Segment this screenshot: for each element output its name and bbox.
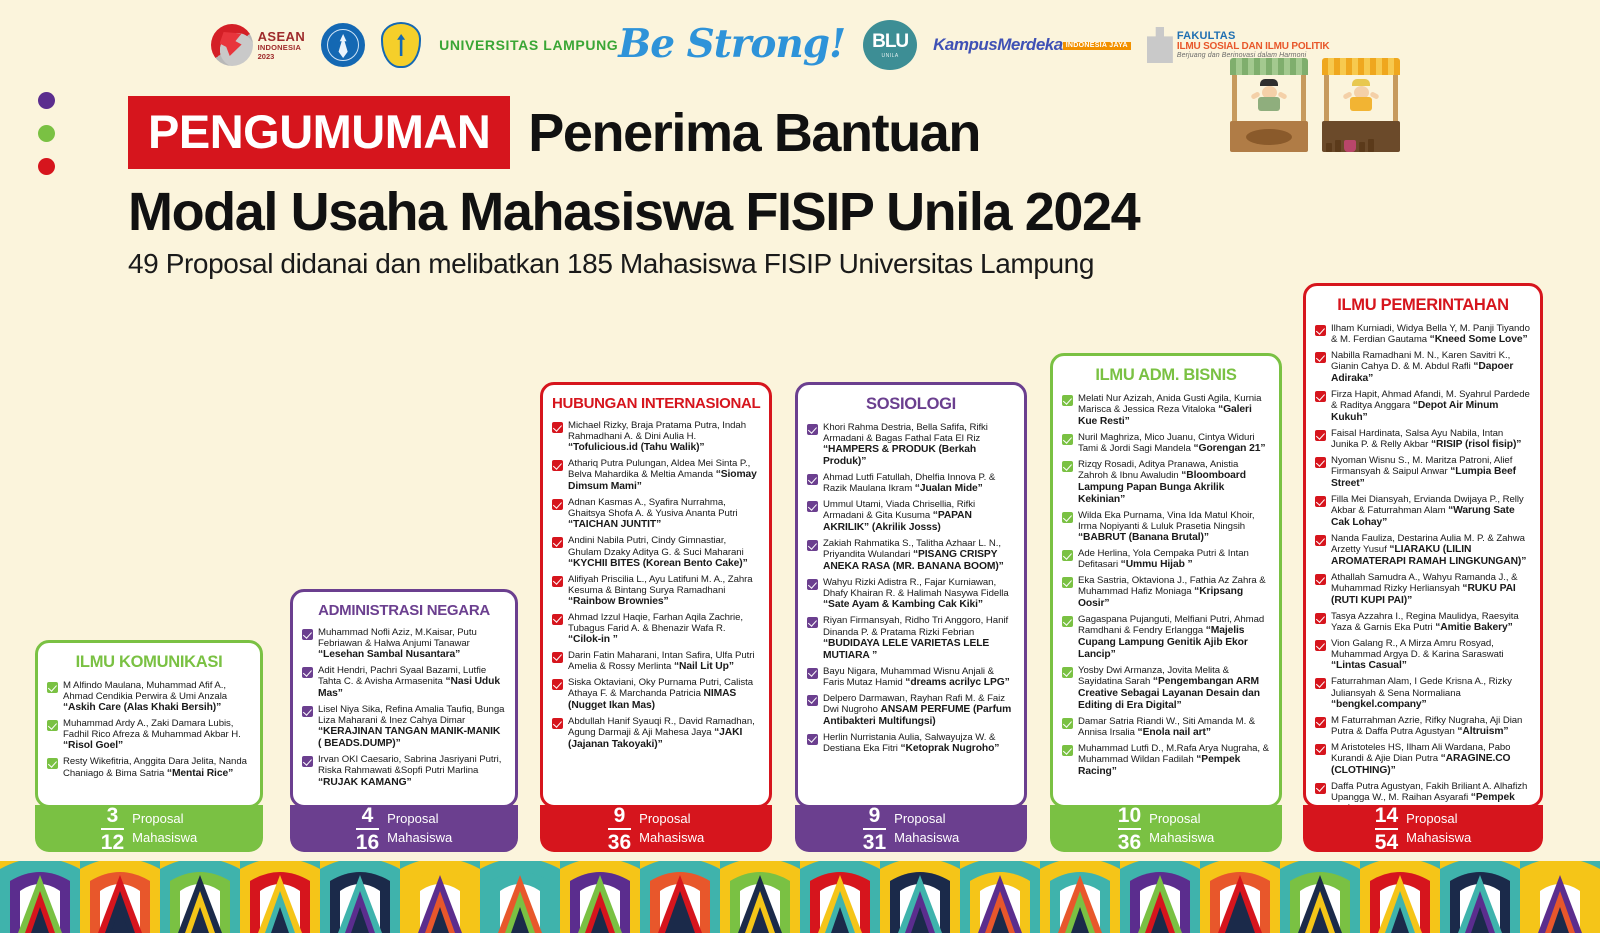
grantee-list: M Alfindo Maulana, Muhammad Afif A., Ahm… bbox=[47, 680, 251, 779]
grantee-entry: Vion Galang R., A Mirza Amru Rosyad, Muh… bbox=[1315, 638, 1531, 672]
grantee-names: Michael Rizky, Braja Pratama Putra, Inda… bbox=[568, 420, 746, 442]
check-icon bbox=[807, 579, 818, 590]
grantee-text: Rizqy Rosadi, Aditya Pranawa, Anistia Za… bbox=[1078, 459, 1270, 506]
grantee-entry: Tasya Azzahra I., Regina Maulidya, Raesy… bbox=[1315, 611, 1531, 634]
grantee-text: Nuril Maghriza, Mico Juanu, Cintya Widur… bbox=[1078, 432, 1270, 455]
check-icon bbox=[807, 540, 818, 551]
stall-counter-menu bbox=[1322, 121, 1400, 152]
grantee-text: Yosby Dwi Armanza, Jovita Melita & Sayid… bbox=[1078, 665, 1270, 712]
stall-roof-yellow bbox=[1322, 58, 1400, 75]
grantee-business-name: “Gorengan 21” bbox=[1193, 443, 1265, 454]
check-icon bbox=[552, 652, 563, 663]
check-icon bbox=[807, 668, 818, 679]
grantee-text: Adit Hendri, Pachri Syaal Bazami, Lutfie… bbox=[318, 665, 506, 700]
grantee-list: Muhammad Nofli Aziz, M.Kaisar, Putu Febr… bbox=[302, 627, 506, 789]
asean-indonesia-2023-logo: ASEAN INDONESIA 2023 bbox=[211, 24, 306, 66]
student-count: 54 bbox=[1375, 831, 1398, 853]
ornament-motif bbox=[1040, 861, 1120, 933]
fisip-tower-icon bbox=[1147, 27, 1173, 63]
proposal-count: 9 bbox=[863, 805, 886, 827]
check-icon bbox=[1315, 574, 1326, 585]
proposal-count: 3 bbox=[101, 805, 124, 827]
fisip-line2: ILMU SOSIAL DAN ILMU POLITIK bbox=[1177, 42, 1330, 52]
grantee-entry: Firza Hapit, Ahmad Afandi, M. Syahrul Pa… bbox=[1315, 389, 1531, 424]
student-count: 12 bbox=[101, 831, 124, 853]
fraction-divider bbox=[1118, 828, 1141, 830]
grantee-names: M Alfindo Maulana, Muhammad Afif A., Ahm… bbox=[63, 680, 227, 702]
department-card-hubungan-internasional: HUBUNGAN INTERNASIONALMichael Rizky, Bra… bbox=[540, 382, 772, 855]
headline-line-2: Modal Usaha Mahasiswa FISIP Unila 2024 bbox=[128, 185, 1328, 239]
grantee-text: Bayu Nigara, Muhammad Wisnu Anjali & Far… bbox=[823, 666, 1015, 689]
grantee-names: Faturrahman Alam, I Gede Krisna A., Rizk… bbox=[1331, 676, 1512, 698]
grantee-names: Wilda Eka Purnama, Vina Ida Matul Khoir,… bbox=[1078, 510, 1254, 532]
check-icon bbox=[807, 474, 818, 485]
summary-labels: ProposalMahasiswa bbox=[1406, 810, 1471, 848]
grantee-entry: Rizqy Rosadi, Aditya Pranawa, Anistia Za… bbox=[1062, 459, 1270, 506]
fraction-divider bbox=[101, 828, 124, 830]
ornament-motif bbox=[160, 861, 240, 933]
check-icon bbox=[1315, 535, 1326, 546]
department-summary-footer: 1036ProposalMahasiswa bbox=[1050, 805, 1282, 852]
grantee-text: Wilda Eka Purnama, Vina Ida Matul Khoir,… bbox=[1078, 510, 1270, 544]
grantee-text: Eka Sastria, Oktaviona J., Fathia Az Zah… bbox=[1078, 575, 1270, 610]
check-icon bbox=[552, 718, 563, 729]
grantee-text: Alifiyah Priscilia L., Ayu Latifuni M. A… bbox=[568, 574, 760, 608]
check-icon bbox=[1315, 430, 1326, 441]
grantee-entry: Nyoman Wisnu S., M. Maritza Patroni, Ali… bbox=[1315, 455, 1531, 490]
department-title: ADMINISTRASI NEGARA bbox=[302, 602, 506, 619]
grantee-text: Muhammad Lutfi D., M.Rafa Arya Nugraha, … bbox=[1078, 743, 1270, 778]
ornament-motif bbox=[720, 861, 800, 933]
summary-fraction: 1454 bbox=[1375, 805, 1398, 853]
grantee-names: Khori Rahma Destria, Bella Safifa, Rifki… bbox=[823, 422, 988, 444]
grantee-entry: Adit Hendri, Pachri Syaal Bazami, Lutfie… bbox=[302, 665, 506, 700]
proposal-label: Proposal bbox=[387, 810, 452, 829]
mahasiswa-label: Mahasiswa bbox=[132, 829, 197, 848]
grantee-text: Muhammad Nofli Aziz, M.Kaisar, Putu Febr… bbox=[318, 627, 506, 661]
grantee-business-name: “Tofulicious.id (Tahu Walik)” bbox=[568, 442, 704, 453]
grantee-entry: Muhammad Ardy A., Zaki Damara Lubis, Fad… bbox=[47, 718, 251, 752]
grantee-text: Irvan OKI Caesario, Sabrina Jasriyani Pu… bbox=[318, 754, 506, 788]
check-icon bbox=[1315, 744, 1326, 755]
grantee-text: M Aristoteles HS, Ilham Ali Wardana, Pab… bbox=[1331, 742, 1531, 777]
grantee-text: Siska Oktaviani, Oky Purnama Putri, Cali… bbox=[568, 677, 760, 712]
grantee-text: Darin Fatin Maharani, Intan Safira, Ulfa… bbox=[568, 650, 760, 673]
grantee-entry: Herlin Nurristania Aulia, Salwayujza W. … bbox=[807, 732, 1015, 755]
grantee-business-name: “Mentai Rice” bbox=[167, 768, 233, 779]
proposal-label: Proposal bbox=[639, 810, 704, 829]
grantee-text: Khori Rahma Destria, Bella Safifa, Rifki… bbox=[823, 422, 1015, 468]
grantee-text: Riyan Firmansyah, Ridho Tri Anggoro, Han… bbox=[823, 615, 1015, 661]
check-icon bbox=[1062, 434, 1073, 445]
grantee-entry: Melati Nur Azizah, Anida Gusti Agila, Ku… bbox=[1062, 393, 1270, 428]
grantee-entry: Filla Mei Diansyah, Ervianda Dwijaya P.,… bbox=[1315, 494, 1531, 529]
grantee-text: M Faturrahman Azrie, Rifky Nugraha, Aji … bbox=[1331, 715, 1531, 738]
check-icon bbox=[807, 424, 818, 435]
summary-fraction: 312 bbox=[101, 805, 124, 853]
ornament-motif bbox=[320, 861, 400, 933]
grantee-text: Andini Nabila Putri, Cindy Gimnastiar, G… bbox=[568, 535, 760, 569]
department-card-ilmu-pemerintahan: ILMU PEMERINTAHANIlham Kurniadi, Widya B… bbox=[1303, 283, 1543, 855]
department-card-administrasi-negara: ADMINISTRASI NEGARAMuhammad Nofli Aziz, … bbox=[290, 589, 518, 855]
grantee-entry: Muhammad Nofli Aziz, M.Kaisar, Putu Febr… bbox=[302, 627, 506, 661]
grantee-business-name: “Askih Care (Alas Khaki Bersih)” bbox=[63, 702, 221, 713]
grantee-entry: M Alfindo Maulana, Muhammad Afif A., Ahm… bbox=[47, 680, 251, 714]
check-icon bbox=[1315, 457, 1326, 468]
student-count: 36 bbox=[1118, 831, 1141, 853]
grantee-text: Abdullah Hanif Syauqi R., David Ramadhan… bbox=[568, 716, 760, 751]
grantee-text: Athallah Samudra A., Wahyu Ramanda J., &… bbox=[1331, 572, 1531, 607]
unila-shield-logo bbox=[381, 22, 421, 68]
grantee-entry: Gagaspana Pujanguti, Melfiani Putri, Ahm… bbox=[1062, 614, 1270, 661]
grantee-entry: Irvan OKI Caesario, Sabrina Jasriyani Pu… bbox=[302, 754, 506, 788]
ornament-motif bbox=[1520, 861, 1600, 933]
grantee-names: Riyan Firmansyah, Ridho Tri Anggoro, Han… bbox=[823, 615, 1008, 637]
check-icon bbox=[1062, 461, 1073, 472]
grantee-text: Athariq Putra Pulungan, Aldea Mei Sinta … bbox=[568, 458, 760, 493]
grantee-business-name: “Risol Goel” bbox=[63, 740, 123, 751]
blu-label: BLU bbox=[872, 31, 908, 53]
grantee-text: Lisel Niya Sika, Refina Amalia Taufiq, B… bbox=[318, 704, 506, 750]
check-icon bbox=[1062, 616, 1073, 627]
grantee-names: Alifiyah Priscilia L., Ayu Latifuni M. A… bbox=[568, 574, 753, 596]
kampus-merdeka-logo: Kampus Merdeka INDONESIA JAYA bbox=[933, 37, 1131, 53]
department-summary-footer: 312ProposalMahasiswa bbox=[35, 805, 263, 852]
check-icon bbox=[552, 499, 563, 510]
grantee-list: Melati Nur Azizah, Anida Gusti Agila, Ku… bbox=[1062, 393, 1270, 778]
check-icon bbox=[302, 706, 313, 717]
grantee-business-name: “Jualan Mide” bbox=[915, 483, 983, 494]
grantee-text: Melati Nur Azizah, Anida Gusti Agila, Ku… bbox=[1078, 393, 1270, 428]
grantee-text: Herlin Nurristania Aulia, Salwayujza W. … bbox=[823, 732, 1015, 755]
department-card-body: SOSIOLOGIKhori Rahma Destria, Bella Safi… bbox=[795, 382, 1027, 808]
check-icon bbox=[1315, 640, 1326, 651]
kampus-merdeka-line1: Kampus bbox=[933, 37, 997, 53]
grantee-business-name: “Sate Ayam & Kambing Cak Kiki” bbox=[823, 599, 983, 610]
grantee-business-name: “Kneed Some Love” bbox=[1430, 334, 1528, 345]
grantee-text: Wahyu Rizki Adistra R., Fajar Kurniawan,… bbox=[823, 577, 1015, 611]
asean-country-label: INDONESIA bbox=[258, 44, 306, 52]
check-icon bbox=[302, 756, 313, 767]
grantee-entry: Wilda Eka Purnama, Vina Ida Matul Khoir,… bbox=[1062, 510, 1270, 544]
grantee-names: Wahyu Rizki Adistra R., Fajar Kurniawan,… bbox=[823, 577, 1009, 599]
grantee-entry: Faisal Hardinata, Salsa Ayu Nabila, Inta… bbox=[1315, 428, 1531, 451]
grantee-business-name: “HAMPERS & PRODUK (Berkah Produk)” bbox=[823, 444, 976, 467]
grantee-names: Lisel Niya Sika, Refina Amalia Taufiq, B… bbox=[318, 704, 504, 726]
grantee-entry: Khori Rahma Destria, Bella Safifa, Rifki… bbox=[807, 422, 1015, 468]
summary-fraction: 1036 bbox=[1118, 805, 1141, 853]
unila-tagline: UNIVERSITAS LAMPUNG bbox=[439, 39, 618, 52]
mahasiswa-label: Mahasiswa bbox=[639, 829, 704, 848]
logo-bar: ASEAN INDONESIA 2023 UNIVERSITAS LAMPUNG… bbox=[420, 14, 1120, 76]
grantee-names: Adnan Kasmas A., Syafira Nurrahma, Ghait… bbox=[568, 497, 738, 519]
grantee-text: Ummul Utami, Viada Chrisellia, Rifki Arm… bbox=[823, 499, 1015, 534]
check-icon bbox=[1062, 745, 1073, 756]
grantee-text: Filla Mei Diansyah, Ervianda Dwijaya P.,… bbox=[1331, 494, 1531, 529]
ornament-motif bbox=[400, 861, 480, 933]
poster-root: ASEAN INDONESIA 2023 UNIVERSITAS LAMPUNG… bbox=[0, 0, 1600, 933]
check-icon bbox=[1315, 352, 1326, 363]
check-icon bbox=[1062, 550, 1073, 561]
ornament-motif bbox=[960, 861, 1040, 933]
check-icon bbox=[47, 758, 58, 769]
food-stall-drinks bbox=[1322, 58, 1400, 152]
check-icon bbox=[552, 422, 563, 433]
grantee-entry: Ahmad Izzul Haqie, Farhan Aqila Zachrie,… bbox=[552, 612, 760, 646]
ornament-motif bbox=[880, 861, 960, 933]
summary-labels: ProposalMahasiswa bbox=[894, 810, 959, 848]
ornament-motif bbox=[560, 861, 640, 933]
department-card-ilmu-adm-bisnis: ILMU ADM. BISNISMelati Nur Azizah, Anida… bbox=[1050, 353, 1282, 855]
department-summary-footer: 931ProposalMahasiswa bbox=[795, 805, 1027, 852]
summary-fraction: 936 bbox=[608, 805, 631, 853]
unila-slogan: Be Strong! bbox=[618, 27, 845, 63]
bottom-ornament-band bbox=[0, 861, 1600, 933]
check-icon bbox=[1315, 678, 1326, 689]
grantee-list: Khori Rahma Destria, Bella Safifa, Rifki… bbox=[807, 422, 1015, 755]
department-summary-footer: 1454ProposalMahasiswa bbox=[1303, 805, 1543, 852]
grantee-text: Gagaspana Pujanguti, Melfiani Putri, Ahm… bbox=[1078, 614, 1270, 661]
grantee-text: Delpero Darmawan, Rayhan Rafi M. & Faiz … bbox=[823, 693, 1015, 728]
mahasiswa-label: Mahasiswa bbox=[1149, 829, 1214, 848]
dot-green-icon bbox=[38, 125, 55, 142]
check-icon bbox=[1062, 395, 1073, 406]
mahasiswa-label: Mahasiswa bbox=[894, 829, 959, 848]
department-card-body: HUBUNGAN INTERNASIONALMichael Rizky, Bra… bbox=[540, 382, 772, 808]
fraction-divider bbox=[863, 828, 886, 830]
student-count: 16 bbox=[356, 831, 379, 853]
check-icon bbox=[552, 614, 563, 625]
summary-labels: ProposalMahasiswa bbox=[387, 810, 452, 848]
department-card-sosiologi: SOSIOLOGIKhori Rahma Destria, Bella Safi… bbox=[795, 382, 1027, 855]
grantee-entry: Abdullah Hanif Syauqi R., David Ramadhan… bbox=[552, 716, 760, 751]
proposal-label: Proposal bbox=[1406, 810, 1471, 829]
check-icon bbox=[1315, 783, 1326, 794]
check-icon bbox=[1315, 325, 1326, 336]
fraction-divider bbox=[608, 828, 631, 830]
check-icon bbox=[302, 629, 313, 640]
grantee-text: Ahmad Lutfi Fatullah, Dhelfia Innova P. … bbox=[823, 472, 1015, 495]
grantee-entry: Alifiyah Priscilia L., Ayu Latifuni M. A… bbox=[552, 574, 760, 608]
stall-roof-green bbox=[1230, 58, 1308, 75]
grantee-entry: Athallah Samudra A., Wahyu Ramanda J., &… bbox=[1315, 572, 1531, 607]
grantee-business-name: “Lesehan Sambal Nusantara” bbox=[318, 649, 460, 660]
grantee-entry: Muhammad Lutfi D., M.Rafa Arya Nugraha, … bbox=[1062, 743, 1270, 778]
grantee-entry: Resty Wikefitria, Anggita Dara Jelita, N… bbox=[47, 756, 251, 779]
department-title: HUBUNGAN INTERNASIONAL bbox=[552, 395, 760, 412]
grantee-list: Michael Rizky, Braja Pratama Putra, Inda… bbox=[552, 420, 760, 751]
department-summary-footer: 936ProposalMahasiswa bbox=[540, 805, 772, 852]
asean-globe-icon bbox=[211, 24, 253, 66]
grantee-text: Zakiah Rahmatika S., Talitha Azhaar L. N… bbox=[823, 538, 1015, 573]
proposal-label: Proposal bbox=[1149, 810, 1214, 829]
grantee-business-name: “RUJAK KAMANG” bbox=[318, 777, 412, 788]
grantee-business-name: “Amitie Bakery” bbox=[1435, 622, 1512, 633]
grantee-entry: Delpero Darmawan, Rayhan Rafi M. & Faiz … bbox=[807, 693, 1015, 728]
department-title: SOSIOLOGI bbox=[807, 395, 1015, 414]
grantee-entry: Ilham Kurniadi, Widya Bella Y, M. Panji … bbox=[1315, 323, 1531, 346]
check-icon bbox=[47, 682, 58, 693]
department-title: ILMU ADM. BISNIS bbox=[1062, 366, 1270, 385]
ornament-motif bbox=[240, 861, 320, 933]
check-icon bbox=[1062, 718, 1073, 729]
grantee-entry: Faturrahman Alam, I Gede Krisna A., Rizk… bbox=[1315, 676, 1531, 710]
ornament-motif bbox=[1120, 861, 1200, 933]
ornament-motif bbox=[1440, 861, 1520, 933]
grantee-business-name: “Lintas Casual” bbox=[1331, 660, 1407, 671]
check-icon bbox=[552, 679, 563, 690]
ornament-motif bbox=[800, 861, 880, 933]
grantee-entry: Ade Herlina, Yola Cempaka Putri & Intan … bbox=[1062, 548, 1270, 571]
announcement-badge: PENGUMUMAN bbox=[128, 96, 510, 169]
grantee-names: Ahmad Izzul Haqie, Farhan Aqila Zachrie,… bbox=[568, 612, 743, 634]
grantee-text: Daffa Putra Agustyan, Fakih Briliant A. … bbox=[1331, 781, 1531, 808]
check-icon bbox=[302, 667, 313, 678]
grantee-entry: Adnan Kasmas A., Syafira Nurrahma, Ghait… bbox=[552, 497, 760, 531]
grantee-entry: Nuril Maghriza, Mico Juanu, Cintya Widur… bbox=[1062, 432, 1270, 455]
grantee-entry: Athariq Putra Pulungan, Aldea Mei Sinta … bbox=[552, 458, 760, 493]
department-title: ILMU PEMERINTAHAN bbox=[1315, 296, 1531, 315]
grantee-names: Andini Nabila Putri, Cindy Gimnastiar, G… bbox=[568, 535, 744, 557]
grantee-business-name: “RISIP (risol fisip)” bbox=[1431, 439, 1521, 450]
blu-sub-label: UNILA bbox=[882, 53, 899, 59]
headline-subtitle: 49 Proposal didanai dan melibatkan 185 M… bbox=[128, 249, 1328, 278]
grantee-text: Nabilla Ramadhani M. N., Karen Savitri K… bbox=[1331, 350, 1531, 385]
check-icon bbox=[1062, 512, 1073, 523]
proposal-count: 4 bbox=[356, 805, 379, 827]
grantee-business-name: “dreams acrilyc LPG” bbox=[905, 677, 1009, 688]
grantee-entry: Yosby Dwi Armanza, Jovita Melita & Sayid… bbox=[1062, 665, 1270, 712]
grantee-business-name: “Ummu Hijab ” bbox=[1121, 559, 1193, 570]
grantee-text: Nanda Fauliza, Destarina Aulia M. P. & Z… bbox=[1331, 533, 1531, 568]
grantee-entry: Damar Satria Riandi W., Siti Amanda M. &… bbox=[1062, 716, 1270, 739]
grantee-entry: Daffa Putra Agustyan, Fakih Briliant A. … bbox=[1315, 781, 1531, 808]
department-summary-footer: 416ProposalMahasiswa bbox=[290, 805, 518, 852]
kampus-merdeka-line2: Merdeka bbox=[997, 37, 1062, 53]
grantee-entry: Nabilla Ramadhani M. N., Karen Savitri K… bbox=[1315, 350, 1531, 385]
ornament-motif bbox=[1360, 861, 1440, 933]
grantee-entry: Nanda Fauliza, Destarina Aulia M. P. & Z… bbox=[1315, 533, 1531, 568]
dot-purple-icon bbox=[38, 92, 55, 109]
summary-labels: ProposalMahasiswa bbox=[1149, 810, 1214, 848]
ornament-motif bbox=[80, 861, 160, 933]
grantee-entry: Bayu Nigara, Muhammad Wisnu Anjali & Far… bbox=[807, 666, 1015, 689]
grantee-entry: Wahyu Rizki Adistra R., Fajar Kurniawan,… bbox=[807, 577, 1015, 611]
grantee-text: Ade Herlina, Yola Cempaka Putri & Intan … bbox=[1078, 548, 1270, 571]
grantee-entry: Eka Sastria, Oktaviona J., Fathia Az Zah… bbox=[1062, 575, 1270, 610]
grantee-text: Nyoman Wisnu S., M. Maritza Patroni, Ali… bbox=[1331, 455, 1531, 490]
summary-labels: ProposalMahasiswa bbox=[132, 810, 197, 848]
grantee-business-name: “Rainbow Brownies” bbox=[568, 596, 669, 607]
proposal-count: 9 bbox=[608, 805, 631, 827]
department-card-ilmu-komunikasi: ILMU KOMUNIKASIM Alfindo Maulana, Muhamm… bbox=[35, 640, 263, 855]
summary-fraction: 931 bbox=[863, 805, 886, 853]
check-icon bbox=[807, 695, 818, 706]
mahasiswa-label: Mahasiswa bbox=[1406, 829, 1471, 848]
blu-unila-logo: BLU UNILA bbox=[863, 20, 917, 70]
grantee-business-name: “Altruism” bbox=[1457, 726, 1508, 737]
grantee-entry: M Aristoteles HS, Ilham Ali Wardana, Pab… bbox=[1315, 742, 1531, 777]
grantee-text: Firza Hapit, Ahmad Afandi, M. Syahrul Pa… bbox=[1331, 389, 1531, 424]
department-card-body: ILMU PEMERINTAHANIlham Kurniadi, Widya B… bbox=[1303, 283, 1543, 808]
ornament-motif bbox=[0, 861, 80, 933]
grantee-text: Tasya Azzahra I., Regina Maulidya, Raesy… bbox=[1331, 611, 1531, 634]
check-icon bbox=[552, 460, 563, 471]
student-count: 36 bbox=[608, 831, 631, 853]
grantee-entry: Andini Nabila Putri, Cindy Gimnastiar, G… bbox=[552, 535, 760, 569]
grantee-entry: Riyan Firmansyah, Ridho Tri Anggoro, Han… bbox=[807, 615, 1015, 661]
grantee-list: Ilham Kurniadi, Widya Bella Y, M. Panji … bbox=[1315, 323, 1531, 808]
grantee-entry: Lisel Niya Sika, Refina Amalia Taufiq, B… bbox=[302, 704, 506, 750]
grantee-entry: Darin Fatin Maharani, Intan Safira, Ulfa… bbox=[552, 650, 760, 673]
student-count: 31 bbox=[863, 831, 886, 853]
department-card-body: ADMINISTRASI NEGARAMuhammad Nofli Aziz, … bbox=[290, 589, 518, 808]
ornament-motif bbox=[1280, 861, 1360, 933]
grantee-text: Michael Rizky, Braja Pratama Putra, Inda… bbox=[568, 420, 760, 454]
headline-block: PENGUMUMAN Penerima Bantuan Modal Usaha … bbox=[128, 96, 1328, 278]
grantee-text: M Alfindo Maulana, Muhammad Afif A., Ahm… bbox=[63, 680, 251, 714]
unila-be-strong-logo: UNIVERSITAS LAMPUNG Be Strong! bbox=[439, 27, 845, 63]
grantee-entry: Ummul Utami, Viada Chrisellia, Rifki Arm… bbox=[807, 499, 1015, 534]
check-icon bbox=[1315, 613, 1326, 624]
fraction-divider bbox=[356, 828, 379, 830]
grantee-text: Faisal Hardinata, Salsa Ayu Nabila, Inta… bbox=[1331, 428, 1531, 451]
grantee-text: Muhammad Ardy A., Zaki Damara Lubis, Fad… bbox=[63, 718, 251, 752]
check-icon bbox=[807, 734, 818, 745]
grantee-text: Resty Wikefitria, Anggita Dara Jelita, N… bbox=[63, 756, 251, 779]
grantee-business-name: “KYCHII BITES (Korean Bento Cake)” bbox=[568, 558, 748, 569]
grantee-text: Ahmad Izzul Haqie, Farhan Aqila Zachrie,… bbox=[568, 612, 760, 646]
grantee-entry: M Faturrahman Azrie, Rifky Nugraha, Aji … bbox=[1315, 715, 1531, 738]
check-icon bbox=[1315, 496, 1326, 507]
grantee-names: Muhammad Nofli Aziz, M.Kaisar, Putu Febr… bbox=[318, 627, 477, 649]
grantee-business-name: “Nail Lit Up” bbox=[674, 661, 734, 672]
grantee-business-name: “BUDIDAYA LELE VARIETAS LELE MUTIARA ” bbox=[823, 638, 989, 661]
asean-year-label: 2023 bbox=[258, 53, 306, 61]
grantee-entry: Michael Rizky, Braja Pratama Putra, Inda… bbox=[552, 420, 760, 454]
kemendikbud-tutwuri-logo bbox=[321, 23, 365, 67]
check-icon bbox=[1062, 577, 1073, 588]
grantee-text: Adnan Kasmas A., Syafira Nurrahma, Ghait… bbox=[568, 497, 760, 531]
department-card-body: ILMU KOMUNIKASIM Alfindo Maulana, Muhamm… bbox=[35, 640, 263, 808]
headline-line-1: Penerima Bantuan bbox=[528, 106, 980, 160]
check-icon bbox=[807, 617, 818, 628]
department-title: ILMU KOMUNIKASI bbox=[47, 653, 251, 672]
check-icon bbox=[552, 537, 563, 548]
grantee-text: Damar Satria Riandi W., Siti Amanda M. &… bbox=[1078, 716, 1270, 739]
vendor-woman-icon bbox=[1344, 79, 1378, 111]
decorative-dots bbox=[38, 92, 55, 191]
grantee-business-name: “BABRUT (Banana Brutal)” bbox=[1078, 532, 1209, 543]
asean-label: ASEAN bbox=[258, 30, 306, 43]
department-card-body: ILMU ADM. BISNISMelati Nur Azizah, Anida… bbox=[1050, 353, 1282, 808]
summary-fraction: 416 bbox=[356, 805, 379, 853]
grantee-names: Muhammad Lutfi D., M.Rafa Arya Nugraha, … bbox=[1078, 743, 1269, 765]
grantee-business-name: “KERAJINAN TANGAN MANIK-MANIK ( BEADS.DU… bbox=[318, 726, 500, 749]
grantee-entry: Ahmad Lutfi Fatullah, Dhelfia Innova P. … bbox=[807, 472, 1015, 495]
dot-red-icon bbox=[38, 158, 55, 175]
grantee-names: Irvan OKI Caesario, Sabrina Jasriyani Pu… bbox=[318, 754, 501, 776]
proposal-count: 10 bbox=[1118, 805, 1141, 827]
grantee-names: Vion Galang R., A Mirza Amru Rosyad, Muh… bbox=[1331, 638, 1504, 660]
check-icon bbox=[47, 720, 58, 731]
grantee-text: Faturrahman Alam, I Gede Krisna A., Rizk… bbox=[1331, 676, 1531, 710]
grantee-text: Vion Galang R., A Mirza Amru Rosyad, Muh… bbox=[1331, 638, 1531, 672]
ornament-motif bbox=[1200, 861, 1280, 933]
grantee-names: Muhammad Ardy A., Zaki Damara Lubis, Fad… bbox=[63, 718, 241, 740]
grantee-entry: Zakiah Rahmatika S., Talitha Azhaar L. N… bbox=[807, 538, 1015, 573]
check-icon bbox=[1315, 717, 1326, 728]
